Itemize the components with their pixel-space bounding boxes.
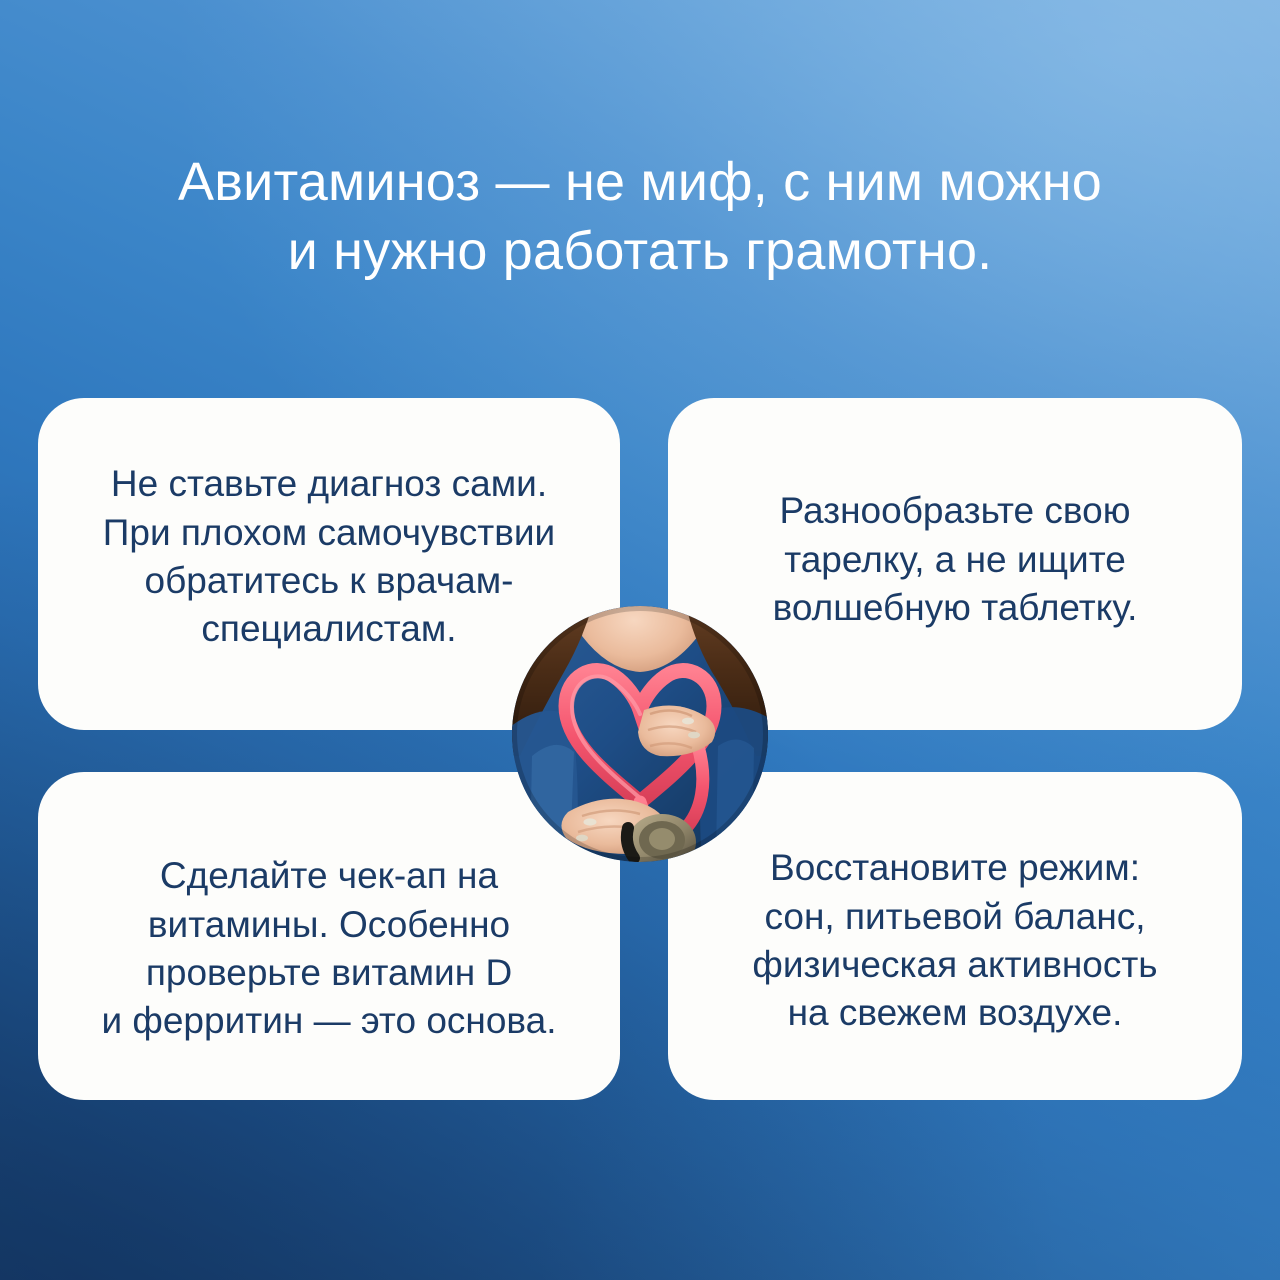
poster-canvas: Авитаминоз — не миф, с ним можно и нужно… (0, 0, 1280, 1280)
tip-card-2-text: Разнообразьте свою тарелку, а не ищите в… (668, 487, 1242, 640)
stethoscope-heart-photo (512, 606, 768, 862)
tip-card-4: Восстановите режим: сон, питьевой баланс… (668, 772, 1242, 1100)
tip-card-3: Сделайте чек-ап на витамины. Особенно пр… (38, 772, 620, 1100)
tip-card-4-text: Восстановите режим: сон, питьевой баланс… (668, 834, 1242, 1038)
page-title: Авитаминоз — не миф, с ним можно и нужно… (0, 148, 1280, 285)
tip-card-1-text: Не ставьте диагноз сами. При плохом само… (38, 460, 620, 668)
tip-card-3-text: Сделайте чек-ап на витамины. Особенно пр… (38, 826, 620, 1046)
